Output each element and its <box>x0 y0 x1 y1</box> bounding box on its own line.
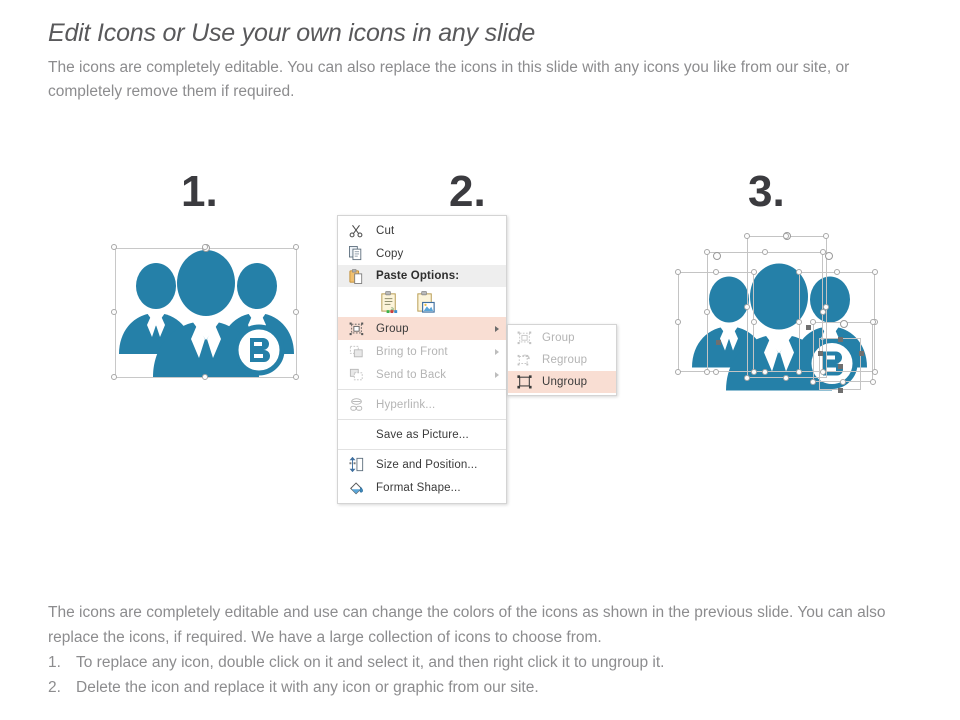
resize-handle-nw[interactable] <box>111 244 117 250</box>
resize-handle[interactable] <box>870 319 876 325</box>
resize-handle[interactable] <box>840 379 846 385</box>
menu-divider <box>338 449 506 450</box>
vertex-handle[interactable] <box>838 364 843 369</box>
group-shapes-icon <box>346 320 366 338</box>
resize-handle-n[interactable] <box>202 244 208 250</box>
context-menu[interactable]: Cut Copy <box>337 215 507 504</box>
menu-item-label: Cut <box>376 225 394 237</box>
vertex-handle[interactable] <box>818 351 823 356</box>
menu-item-label: Size and Position... <box>376 459 477 471</box>
paste-picture-icon[interactable] <box>414 290 438 314</box>
resize-handle[interactable] <box>744 304 750 310</box>
group-shapes-icon <box>514 329 534 347</box>
resize-handle[interactable] <box>823 233 829 239</box>
menu-item-label: Bring to Front <box>376 346 448 358</box>
paste-options-strip[interactable]: a <box>338 287 506 317</box>
menu-item-label: Hyperlink... <box>376 399 435 411</box>
resize-handle[interactable] <box>713 269 719 275</box>
step-number-3: 3. <box>748 170 785 214</box>
group-submenu[interactable]: Group Regroup <box>507 324 617 396</box>
resize-handle[interactable] <box>870 379 876 385</box>
copy-documents-icon <box>346 245 366 263</box>
resize-handle[interactable] <box>783 233 789 239</box>
footer-paragraph: The icons are completely editable and us… <box>48 600 928 650</box>
clipboard-paste-icon <box>346 267 366 285</box>
rotate-handle[interactable] <box>825 252 833 260</box>
menu-divider <box>338 389 506 390</box>
footer-block: The icons are completely editable and us… <box>48 600 928 700</box>
resize-handle[interactable] <box>762 249 768 255</box>
list-item-text: To replace any icon, double click on it … <box>76 650 664 675</box>
vertex-handle[interactable] <box>838 337 843 342</box>
menu-item-send-to-back[interactable]: Send to Back <box>338 363 506 386</box>
menu-item-format-shape[interactable]: Format Shape... <box>338 476 506 499</box>
menu-item-hyperlink[interactable]: Hyperlink... <box>338 393 506 416</box>
resize-handle-sw[interactable] <box>111 374 117 380</box>
menu-divider <box>338 419 506 420</box>
resize-handle[interactable] <box>823 304 829 310</box>
resize-handle[interactable] <box>783 375 789 381</box>
menu-item-save-as-picture[interactable]: Save as Picture... <box>338 423 506 446</box>
menu-item-label: Save as Picture... <box>376 429 469 441</box>
resize-handle[interactable] <box>762 369 768 375</box>
resize-handle[interactable] <box>834 269 840 275</box>
resize-handle[interactable] <box>820 249 826 255</box>
resize-handle[interactable] <box>751 269 757 275</box>
resize-handle[interactable] <box>796 369 802 375</box>
resize-handle-w[interactable] <box>111 309 117 315</box>
resize-handle[interactable] <box>820 369 826 375</box>
resize-handle[interactable] <box>744 233 750 239</box>
chevron-right-icon <box>495 372 499 378</box>
submenu-item-regroup[interactable]: Regroup <box>508 349 616 371</box>
resize-handle[interactable] <box>796 269 802 275</box>
send-to-back-icon <box>346 366 366 384</box>
paste-keep-source-formatting-icon[interactable]: a <box>378 290 402 314</box>
paint-bucket-icon <box>346 479 366 497</box>
menu-item-copy[interactable]: Copy <box>338 242 506 265</box>
resize-handle[interactable] <box>872 369 878 375</box>
chevron-right-icon <box>495 349 499 355</box>
resize-handle-se[interactable] <box>293 374 299 380</box>
slide-canvas: Edit Icons or Use your own icons in any … <box>0 0 960 720</box>
resize-handle[interactable] <box>704 249 710 255</box>
step-number-2: 2. <box>449 170 486 214</box>
resize-handle[interactable] <box>704 369 710 375</box>
submenu-item-label: Ungroup <box>542 376 587 388</box>
resize-handle[interactable] <box>744 375 750 381</box>
resize-handle-ne[interactable] <box>293 244 299 250</box>
list-item: 2. Delete the icon and replace it with a… <box>48 675 928 700</box>
resize-handle[interactable] <box>675 369 681 375</box>
submenu-item-ungroup[interactable]: Ungroup <box>508 371 616 393</box>
list-item-number: 1. <box>48 650 76 675</box>
menu-item-label: Send to Back <box>376 369 446 381</box>
resize-handle[interactable] <box>796 319 802 325</box>
menu-item-label: Copy <box>376 248 403 260</box>
menu-item-label: Format Shape... <box>376 482 461 494</box>
step-number-1: 1. <box>181 170 218 214</box>
resize-handle[interactable] <box>675 269 681 275</box>
vertex-handle[interactable] <box>838 388 843 393</box>
step-1-illustration[interactable] <box>115 248 297 378</box>
regroup-shapes-icon <box>514 351 534 369</box>
resize-handle[interactable] <box>675 319 681 325</box>
resize-handle[interactable] <box>704 309 710 315</box>
menu-item-label: Group <box>376 323 409 335</box>
list-item-text: Delete the icon and replace it with any … <box>76 675 539 700</box>
none-icon <box>346 426 366 444</box>
resize-handle[interactable] <box>751 369 757 375</box>
ungroup-shapes-icon <box>514 373 534 391</box>
size-position-icon <box>346 456 366 474</box>
hyperlink-icon <box>346 396 366 414</box>
submenu-item-group[interactable]: Group <box>508 327 616 349</box>
rotate-handle[interactable] <box>840 320 848 328</box>
resize-handle-s[interactable] <box>202 374 208 380</box>
resize-handle[interactable] <box>872 269 878 275</box>
menu-item-paste-options: Paste Options: <box>338 265 506 287</box>
step-3-illustration[interactable] <box>683 238 879 413</box>
chevron-right-icon <box>495 326 499 332</box>
resize-handle[interactable] <box>713 369 719 375</box>
submenu-item-label: Regroup <box>542 354 587 366</box>
resize-handle[interactable] <box>810 379 816 385</box>
list-item: 1. To replace any icon, double click on … <box>48 650 928 675</box>
bring-to-front-icon <box>346 343 366 361</box>
submenu-item-label: Group <box>542 332 575 344</box>
menu-item-cut[interactable]: Cut <box>338 219 506 242</box>
menu-item-bring-to-front[interactable]: Bring to Front <box>338 340 506 363</box>
selection-frame[interactable] <box>115 248 297 378</box>
resize-handle[interactable] <box>751 319 757 325</box>
resize-handle-e[interactable] <box>293 309 299 315</box>
vertex-handle[interactable] <box>859 351 864 356</box>
rotate-handle[interactable] <box>713 252 721 260</box>
menu-item-label: Paste Options: <box>376 270 459 282</box>
vertex-handle[interactable] <box>806 325 811 330</box>
page-subtitle: The icons are completely editable. You c… <box>48 56 878 104</box>
vertex-handle[interactable] <box>716 340 721 345</box>
page-title: Edit Icons or Use your own icons in any … <box>48 19 535 48</box>
list-item-number: 2. <box>48 675 76 700</box>
menu-item-group[interactable]: Group <box>338 317 506 340</box>
footer-list: 1. To replace any icon, double click on … <box>48 650 928 700</box>
menu-item-size-and-position[interactable]: Size and Position... <box>338 453 506 476</box>
scissors-icon <box>346 222 366 240</box>
